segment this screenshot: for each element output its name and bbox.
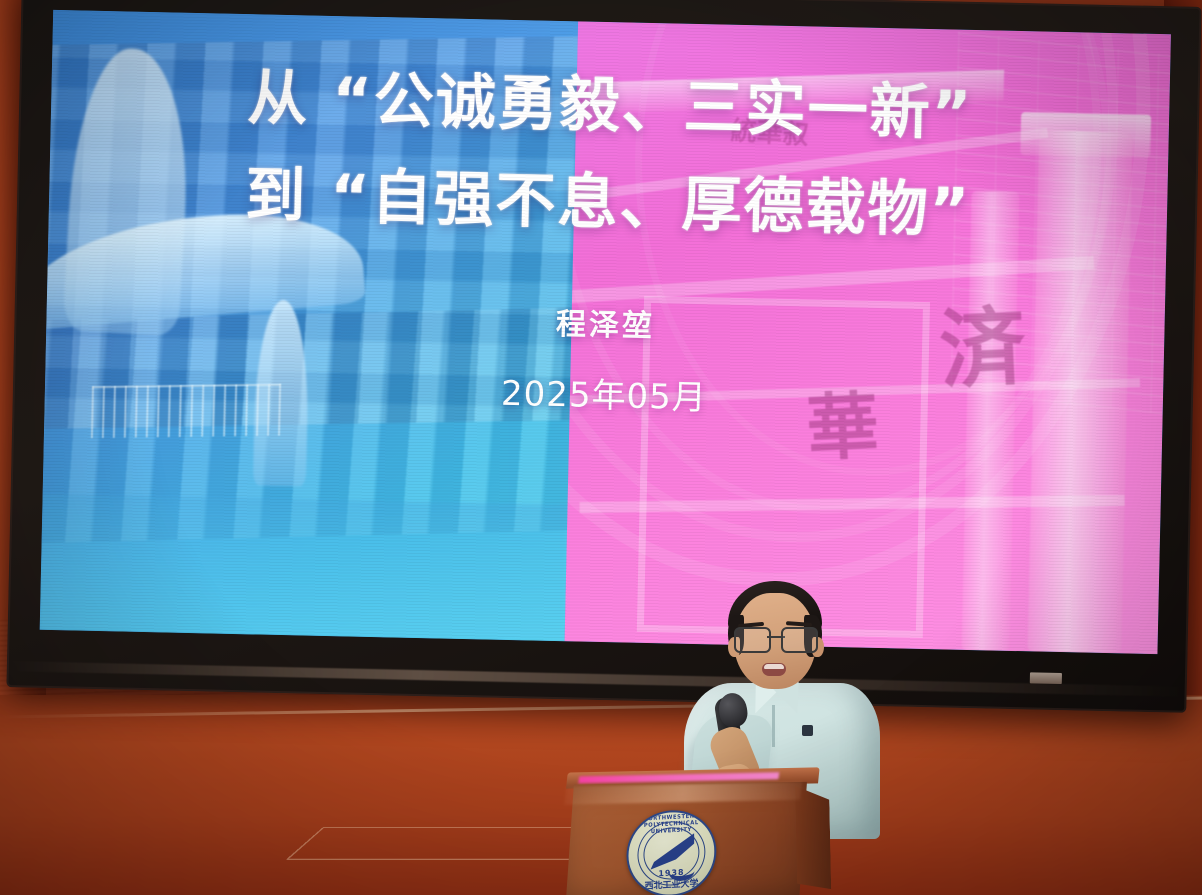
shirt-placket [772, 705, 775, 747]
podium: NORTHWESTERN POLYTECHNICAL UNIVERSITY 19… [559, 767, 828, 895]
lens-right [781, 627, 818, 653]
podium-side-panel [795, 785, 831, 890]
teeth [764, 664, 784, 669]
lecture-hall-photo: 華 済 統華叙 从 “公诚勇毅、三实一新” 到 “自强不息、厚德载物” 程泽堃 … [0, 0, 1202, 895]
eyeglasses-icon [734, 627, 818, 649]
presentation-screen: 華 済 統華叙 从 “公诚勇毅、三实一新” 到 “自强不息、厚德载物” 程泽堃 … [6, 0, 1201, 713]
lens-left [734, 627, 771, 653]
bezel-brand-label [1030, 672, 1062, 684]
screen-display-area: 華 済 統華叙 从 “公诚勇毅、三实一新” 到 “自强不息、厚德载物” 程泽堃 … [40, 10, 1171, 654]
screen-scanlines [40, 10, 1171, 654]
university-emblem: NORTHWESTERN POLYTECHNICAL UNIVERSITY 19… [626, 808, 716, 895]
emblem-english-text: NORTHWESTERN POLYTECHNICAL UNIVERSITY [628, 812, 714, 837]
shirt-logo-patch [802, 725, 813, 736]
slide: 華 済 統華叙 从 “公诚勇毅、三实一新” 到 “自强不息、厚德载物” 程泽堃 … [40, 10, 1171, 654]
